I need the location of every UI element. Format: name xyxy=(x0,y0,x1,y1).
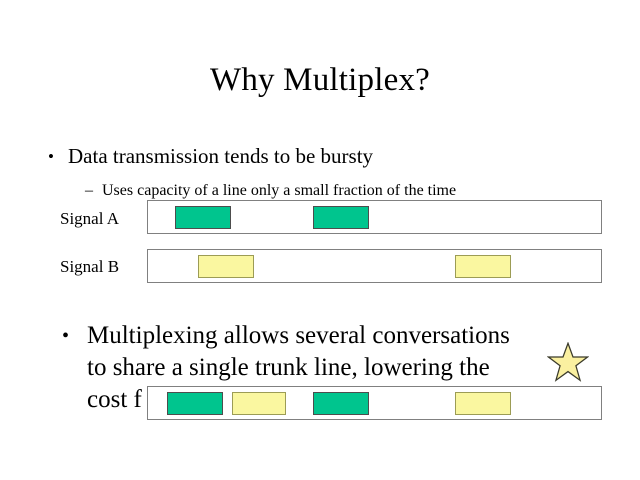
bullet-item-1: • Data transmission tends to be bursty xyxy=(48,143,373,170)
burst-block-signal-b-2 xyxy=(455,255,511,278)
label-signal-b: Signal B xyxy=(60,256,119,278)
sub-bullet-item-1-text: Uses capacity of a line only a small fra… xyxy=(102,180,456,201)
timeline-signal-b xyxy=(147,249,602,283)
sub-bullet-item-1: – Uses capacity of a line only a small f… xyxy=(85,180,456,201)
bullet-item-1-text: Data transmission tends to be bursty xyxy=(68,143,373,170)
burst-block-multiplexed-4 xyxy=(455,392,511,415)
bullet-marker-icon: • xyxy=(48,143,68,170)
dash-marker-icon: – xyxy=(85,180,102,201)
star-icon xyxy=(547,342,589,382)
page-title: Why Multiplex? xyxy=(0,60,640,100)
burst-block-signal-a-2 xyxy=(313,206,369,229)
bullet-marker-icon: • xyxy=(62,320,87,352)
slide-canvas: Why Multiplex? • Data transmission tends… xyxy=(0,0,640,480)
label-signal-a: Signal A xyxy=(60,208,119,230)
burst-block-multiplexed-2 xyxy=(232,392,286,415)
burst-block-signal-b-1 xyxy=(198,255,254,278)
burst-block-multiplexed-1 xyxy=(167,392,223,415)
bullet-item-2-line-2: to share a single trunk line, lowering t… xyxy=(87,352,510,384)
burst-block-signal-a-1 xyxy=(175,206,231,229)
timeline-multiplexed xyxy=(147,386,602,420)
burst-block-multiplexed-3 xyxy=(313,392,369,415)
bullet-item-2-line-1: Multiplexing allows several conversation… xyxy=(87,320,510,352)
timeline-signal-a xyxy=(147,200,602,234)
